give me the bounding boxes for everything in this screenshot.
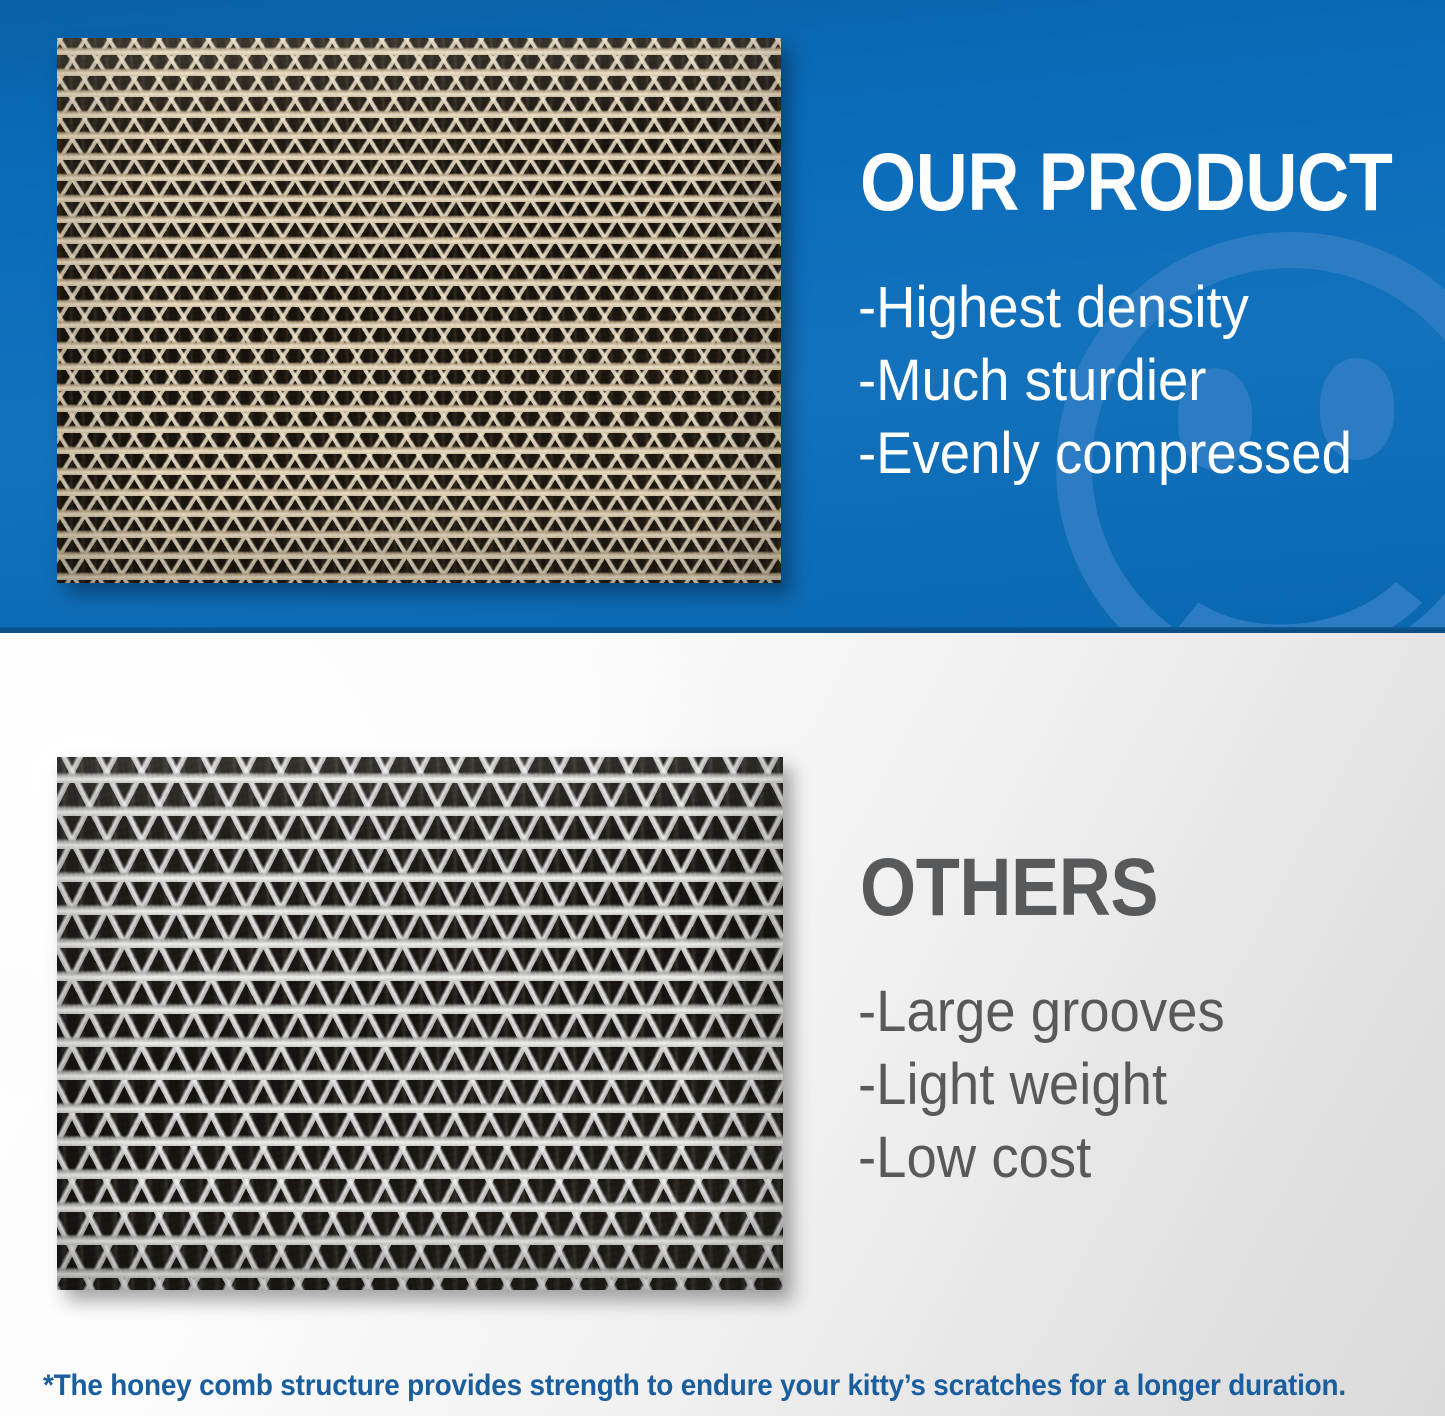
list-item: -Light weight [858,1048,1225,1121]
list-item: -Much sturdier [858,344,1352,417]
others-bullet-list: -Large grooves -Light weight -Low cost [858,975,1248,1194]
others-heading: OTHERS [860,845,1158,931]
footer-disclaimer: *The honey comb structure provides stren… [43,1367,1317,1405]
others-cardboard-image [57,757,783,1290]
our-product-heading: OUR PRODUCT [860,140,1392,226]
product-vignette [57,38,781,583]
list-item: -Evenly compressed [858,417,1352,490]
list-item: -Low cost [858,1121,1225,1194]
our-product-bullet-list: -Highest density -Much sturdier -Evenly … [858,271,1383,490]
our-product-section: OUR PRODUCT -Highest density -Much sturd… [0,0,1445,633]
comparison-infographic: OUR PRODUCT -Highest density -Much sturd… [0,0,1445,1416]
list-item: -Large grooves [858,975,1225,1048]
product-cardboard-image [57,38,781,583]
list-item: -Highest density [858,271,1352,344]
others-vignette [57,757,783,1290]
